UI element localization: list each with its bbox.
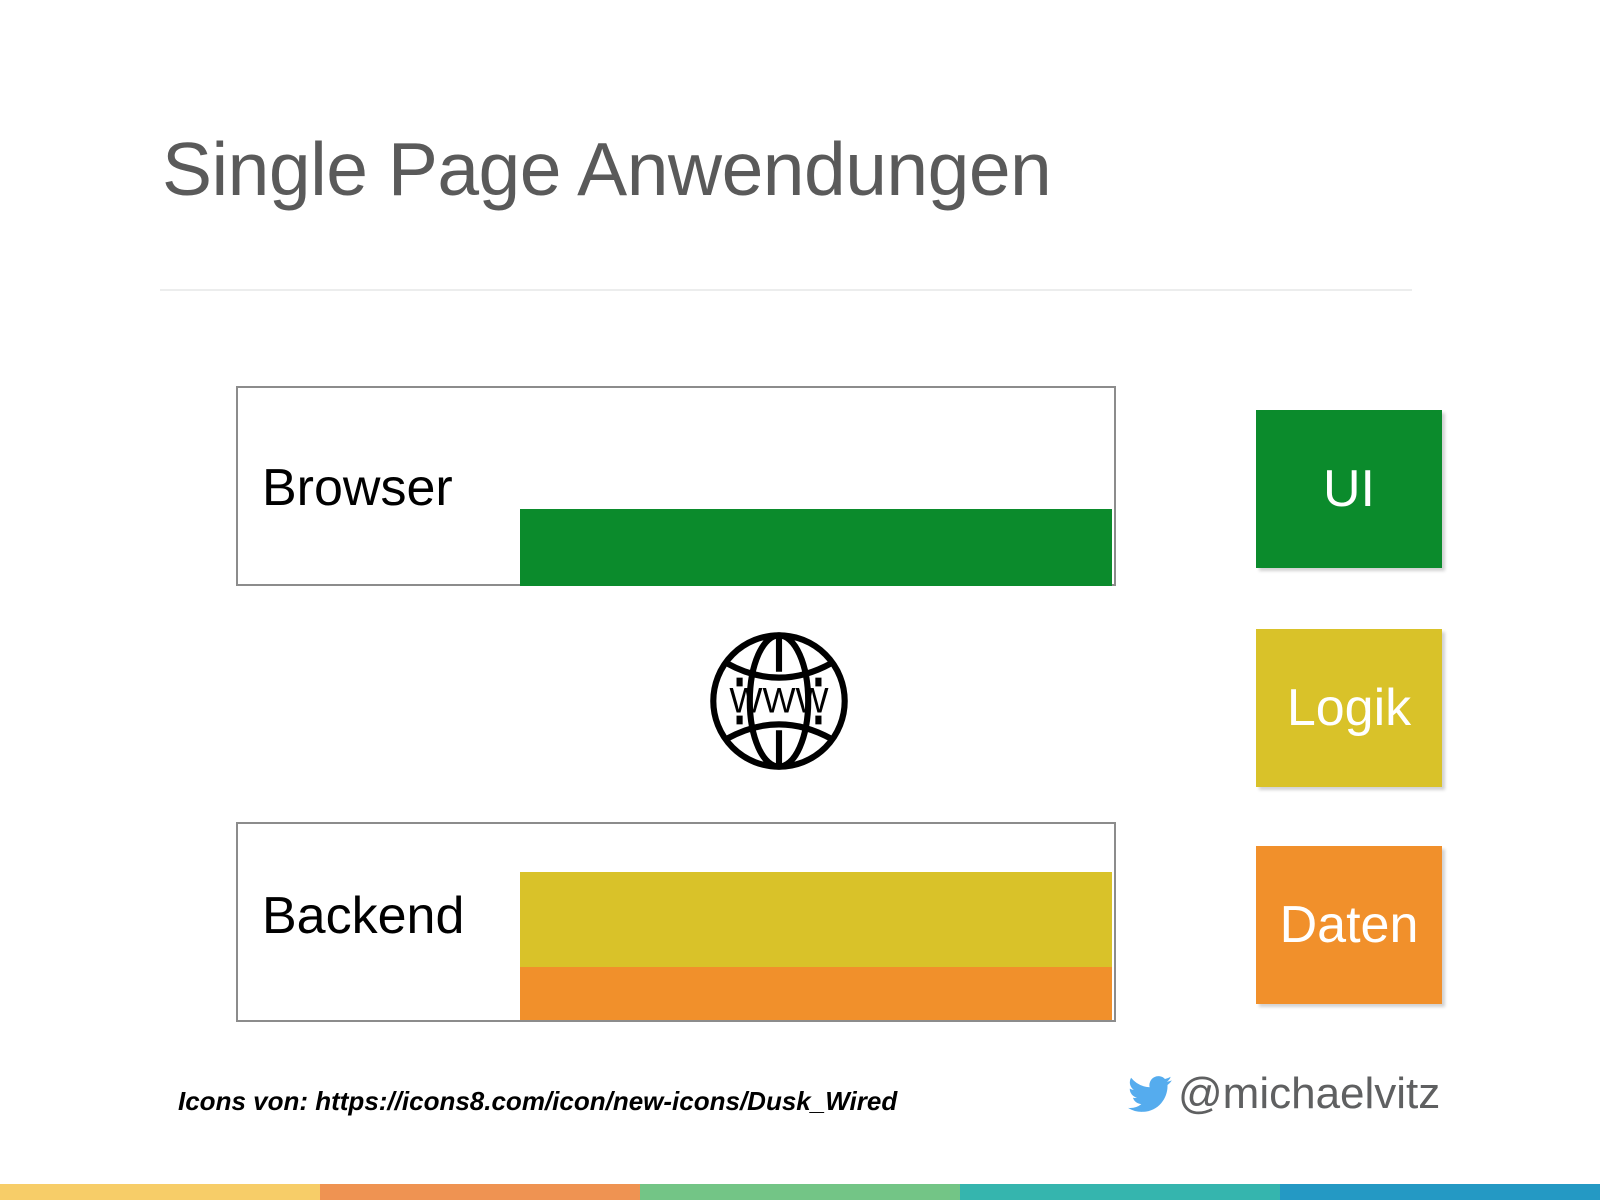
browser-ui-band: [520, 509, 1112, 586]
legend-label-daten: Daten: [1280, 899, 1419, 951]
backend-tier-label: Backend: [262, 890, 464, 942]
legend-label-logik: Logik: [1287, 682, 1411, 734]
backend-logik-band: [520, 872, 1112, 967]
twitter-handle-group: @michaelvitz: [1128, 1072, 1440, 1116]
page-title: Single Page Anwendungen: [162, 132, 1442, 207]
slide-canvas: Single Page Anwendungen Browser WWW Back…: [0, 0, 1600, 1200]
legend-block-ui: UI: [1256, 410, 1442, 568]
accent-segment-1: [0, 1184, 320, 1200]
legend-block-daten: Daten: [1256, 846, 1442, 1004]
globe-www-icon: WWW: [706, 626, 852, 776]
twitter-handle-text: @michaelvitz: [1178, 1072, 1440, 1116]
icon-attribution-text: Icons von: https://icons8.com/icon/new-i…: [178, 1086, 897, 1117]
accent-segment-4: [960, 1184, 1280, 1200]
title-divider: [160, 289, 1412, 291]
accent-strip: [0, 1184, 1600, 1200]
accent-segment-5: [1280, 1184, 1600, 1200]
twitter-icon: [1128, 1072, 1172, 1116]
legend-block-logik: Logik: [1256, 629, 1442, 787]
backend-daten-band: [520, 967, 1112, 1020]
globe-www-text: WWW: [729, 682, 828, 721]
accent-segment-2: [320, 1184, 640, 1200]
legend-label-ui: UI: [1323, 463, 1375, 515]
browser-tier-label: Browser: [262, 462, 453, 514]
accent-segment-3: [640, 1184, 960, 1200]
